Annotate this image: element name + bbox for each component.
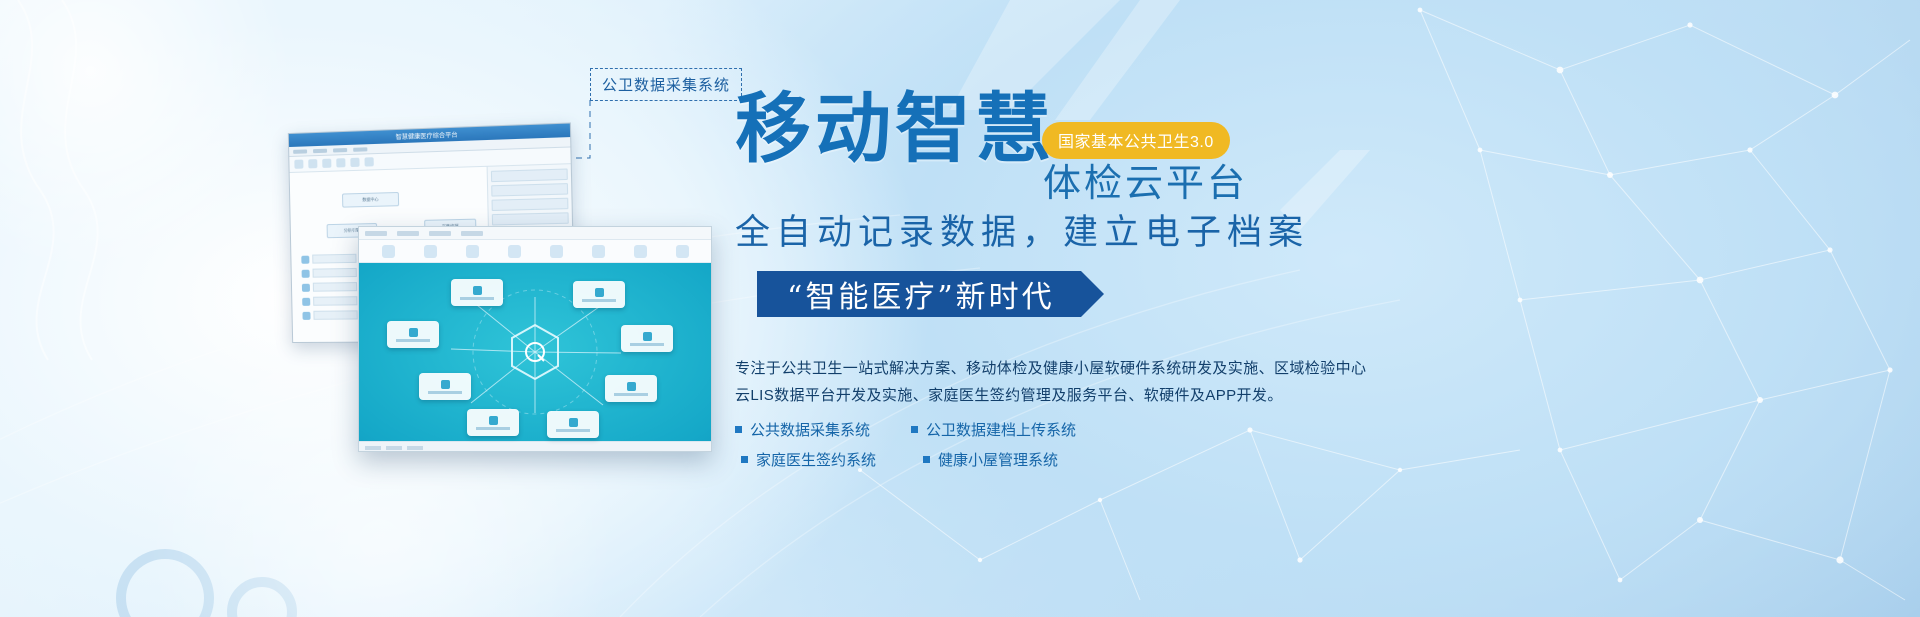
menu-item-placeholder bbox=[333, 147, 347, 152]
square-bullet-icon bbox=[735, 426, 742, 433]
square-bullet-icon bbox=[923, 456, 930, 463]
headline: 移动智慧 bbox=[735, 90, 1055, 168]
dashboard-chip bbox=[621, 325, 673, 352]
app-icon bbox=[382, 245, 395, 258]
headline-row: 移动智慧 国家基本公共卫生3.0 体检云平台 bbox=[735, 96, 1875, 174]
app-icon bbox=[508, 245, 521, 258]
panel-item bbox=[491, 168, 568, 182]
chip-icon bbox=[569, 418, 578, 427]
dashboard-chip bbox=[573, 281, 625, 308]
app-icon bbox=[466, 245, 479, 258]
chip-icon bbox=[595, 288, 604, 297]
dashboard-canvas bbox=[359, 263, 711, 441]
tree-bullet-icon bbox=[301, 255, 309, 263]
tagline: 全自动记录数据，建立电子档案 bbox=[735, 204, 1875, 255]
square-bullet-icon bbox=[911, 426, 918, 433]
tree-label bbox=[312, 254, 356, 264]
tree-row bbox=[302, 268, 357, 278]
list-item-label: 公卫数据建档上传系统 bbox=[926, 419, 1076, 440]
app-icon bbox=[634, 245, 647, 258]
tree-row bbox=[301, 254, 356, 264]
titlebar-chip bbox=[461, 231, 483, 236]
toolbar-icon bbox=[322, 159, 331, 168]
toolbar-icon bbox=[364, 157, 373, 166]
chip-icon bbox=[489, 416, 498, 425]
tree-bullet-icon bbox=[302, 269, 310, 277]
dashboard-titlebar bbox=[359, 227, 711, 240]
chip-label bbox=[630, 343, 664, 346]
list-item-label: 家庭医生签约系统 bbox=[756, 449, 876, 470]
toolbar-icon bbox=[294, 160, 303, 169]
titlebar-chip bbox=[365, 231, 387, 236]
ribbon-wrap: “智能医疗”新时代 bbox=[735, 271, 1875, 317]
app-icon bbox=[424, 245, 437, 258]
banner-stage: 公卫数据采集系统 智慧健康医疗综合平台 数据中心 采集终端 分析引擎 bbox=[0, 0, 1920, 617]
window-title: 智慧健康医疗综合平台 bbox=[396, 130, 458, 141]
subheadline: 体检云平台 bbox=[1043, 152, 1248, 207]
panel-item bbox=[492, 212, 569, 225]
chip-icon bbox=[441, 380, 450, 389]
chip-icon bbox=[643, 332, 652, 341]
list-item-label: 健康小屋管理系统 bbox=[938, 449, 1058, 470]
menu-item-placeholder bbox=[353, 147, 367, 152]
titlebar-chip bbox=[429, 231, 451, 236]
tree-label bbox=[313, 268, 357, 278]
description: 专注于公共卫生一站式解决方案、移动体检及健康小屋软硬件系统研发及实施、区域检验中… bbox=[735, 355, 1875, 409]
tree-row bbox=[302, 310, 357, 320]
description-line-1: 专注于公共卫生一站式解决方案、移动体检及健康小屋软硬件系统研发及实施、区域检验中… bbox=[735, 355, 1875, 382]
chip-icon bbox=[627, 382, 636, 391]
tree-label bbox=[313, 310, 357, 319]
chip-label bbox=[614, 393, 648, 396]
chip-label bbox=[476, 427, 510, 430]
chip-label bbox=[428, 391, 462, 394]
list-item[interactable]: 公共数据采集系统 bbox=[735, 419, 885, 440]
status-chip bbox=[386, 446, 402, 450]
app-icon bbox=[550, 245, 563, 258]
toolbar-icon bbox=[350, 158, 359, 167]
list-item[interactable]: 公卫数据建档上传系统 bbox=[899, 419, 1295, 440]
menu-item-placeholder bbox=[313, 148, 327, 153]
tree-bullet-icon bbox=[302, 311, 310, 319]
panel-item bbox=[491, 183, 568, 197]
status-chip bbox=[365, 446, 381, 450]
ring-icon bbox=[121, 554, 292, 617]
callout-label: 公卫数据采集系统 bbox=[602, 74, 730, 95]
tree-bullet-icon bbox=[302, 283, 310, 291]
description-line-2: 云LIS数据平台开发及实施、家庭医生签约管理及服务平台、软硬件及APP开发。 bbox=[735, 382, 1875, 409]
chip-label bbox=[460, 297, 494, 300]
chip-icon bbox=[473, 286, 482, 295]
chip-label bbox=[582, 299, 616, 302]
toolbar-icon bbox=[336, 158, 345, 167]
callout-box: 公卫数据采集系统 bbox=[590, 68, 742, 101]
tree-label bbox=[313, 296, 357, 306]
dashboard-chip bbox=[451, 279, 503, 306]
titlebar-chip bbox=[397, 231, 419, 236]
tree-row bbox=[302, 296, 357, 306]
glow-top-left bbox=[0, 0, 300, 280]
toolbar-icon bbox=[308, 159, 317, 168]
chip-label bbox=[556, 429, 590, 432]
dashboard-chip bbox=[605, 375, 657, 402]
dashboard-chip bbox=[387, 321, 439, 348]
tree-row bbox=[302, 282, 357, 292]
ribbon-banner: “智能医疗”新时代 bbox=[757, 271, 1081, 317]
feature-list: 公共数据采集系统 公卫数据建档上传系统 家庭医生签约系统 健康小屋管理系统 bbox=[735, 419, 1295, 470]
square-bullet-icon bbox=[741, 456, 748, 463]
dashboard-icon-row bbox=[359, 240, 711, 263]
menu-item-placeholder bbox=[293, 149, 307, 153]
status-chip bbox=[407, 446, 423, 450]
list-item[interactable]: 健康小屋管理系统 bbox=[899, 449, 1295, 470]
app-icon bbox=[676, 245, 689, 258]
chip-icon bbox=[409, 328, 418, 337]
dashboard-chip bbox=[419, 373, 471, 400]
dashboard-chip bbox=[547, 411, 599, 438]
list-item-label: 公共数据采集系统 bbox=[750, 419, 870, 440]
hero-content: 移动智慧 国家基本公共卫生3.0 体检云平台 全自动记录数据，建立电子档案 “智… bbox=[735, 96, 1875, 470]
app-icon bbox=[592, 245, 605, 258]
diagram-node: 数据中心 bbox=[342, 192, 399, 208]
screenshot-dashboard-window bbox=[358, 226, 712, 452]
hub-spokes-icon bbox=[359, 263, 711, 441]
panel-item bbox=[491, 198, 568, 211]
tree-label bbox=[313, 282, 357, 292]
chip-label bbox=[396, 339, 430, 342]
dna-helix-icon bbox=[18, 0, 98, 360]
dashboard-statusbar bbox=[359, 441, 711, 452]
dashboard-chip bbox=[467, 409, 519, 436]
tree-bullet-icon bbox=[302, 297, 310, 305]
list-item[interactable]: 家庭医生签约系统 bbox=[735, 449, 885, 470]
